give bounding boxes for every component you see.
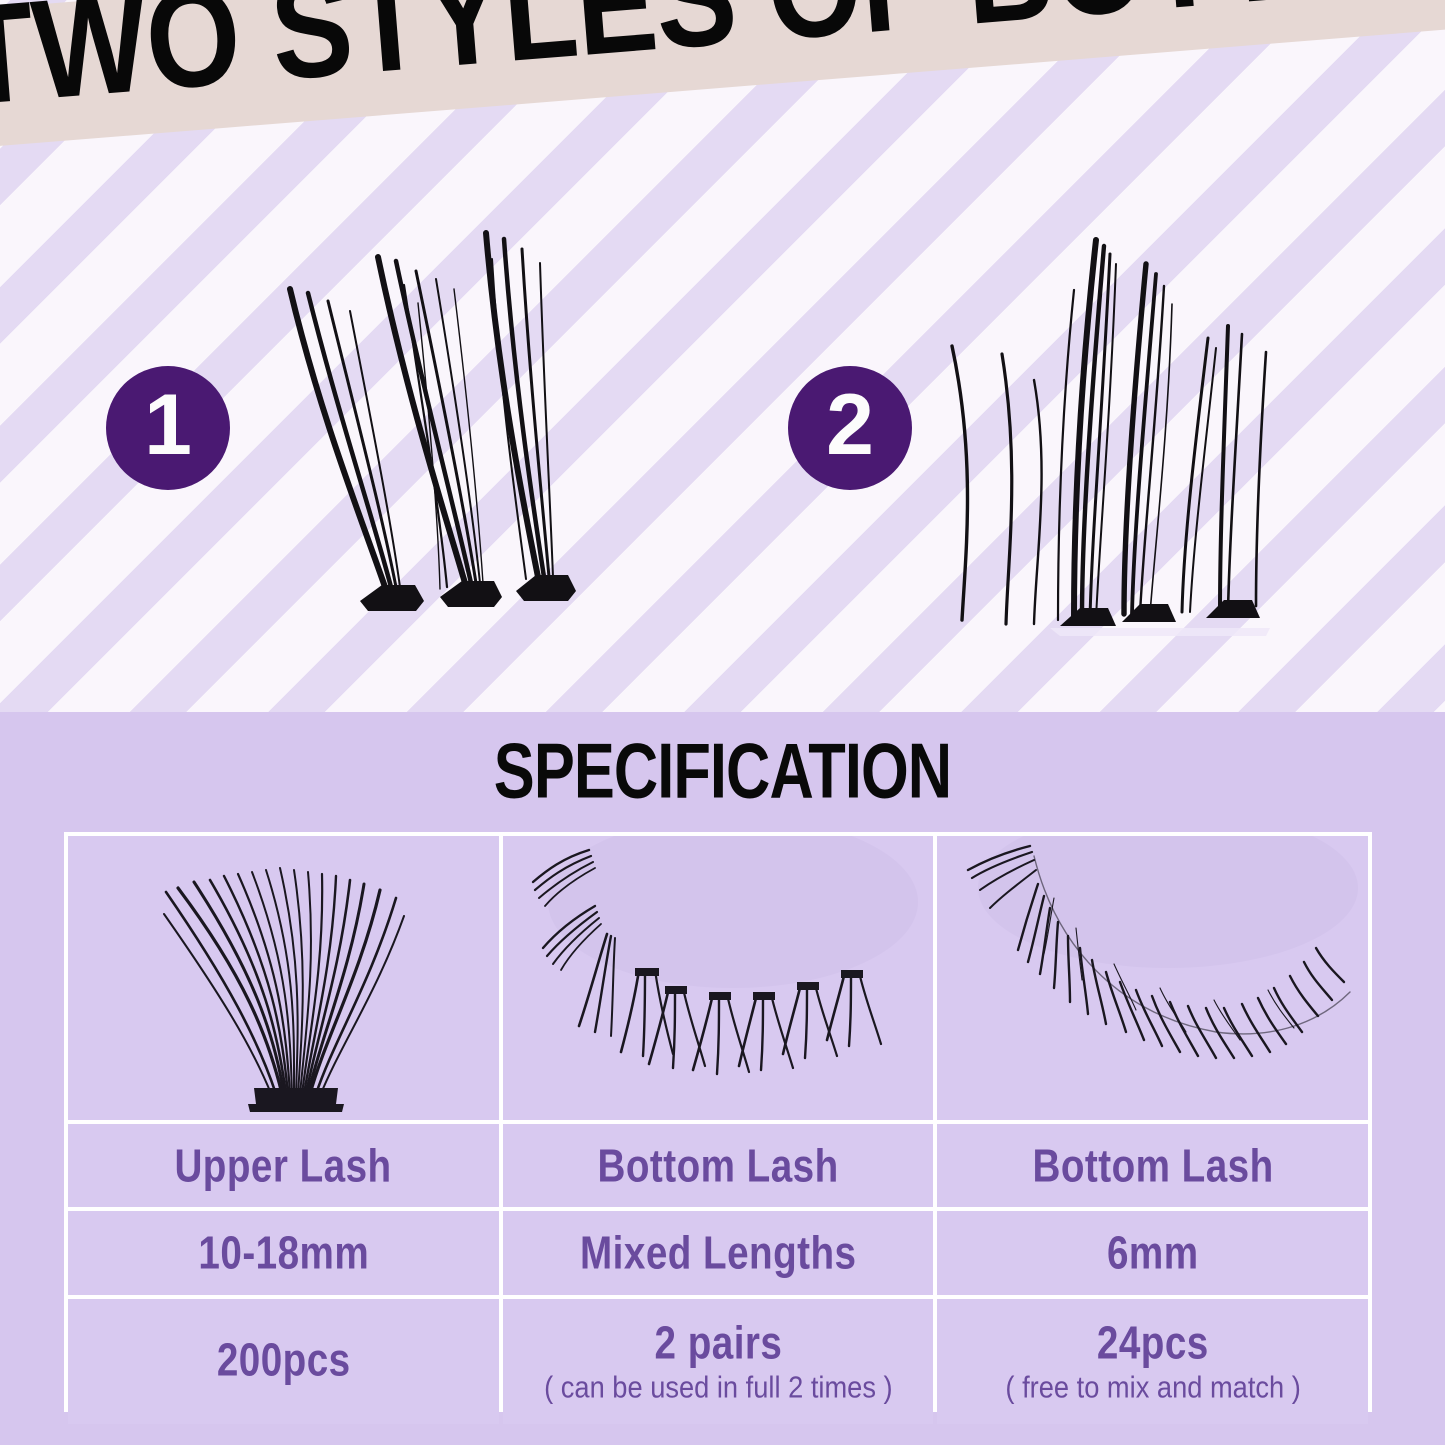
spec-quantity-bottom-lash-mixed: 2 pairs [654,1316,782,1369]
specification-table: Upper Lash Bottom Lash Bottom Lash 10-18… [64,832,1372,1412]
specification-title: SPECIFICATION [51,728,1395,813]
spec-length-bottom-lash-mixed: Mixed Lengths [580,1227,856,1280]
lash-cluster-style-2-image [910,230,1310,640]
spec-image-cell-bottom-lash-segmented [503,836,934,1120]
spec-name-cell-3: Bottom Lash [937,1124,1368,1207]
style-badge-1: 1 [106,366,230,490]
spec-name-bottom-lash-mixed: Bottom Lash [597,1139,838,1192]
spec-name-cell-1: Upper Lash [68,1124,499,1207]
spec-length-upper-lash: 10-18mm [198,1227,369,1280]
spec-length-bottom-lash-6mm: 6mm [1107,1227,1199,1280]
bottom-lash-strip-dense-icon [938,836,1368,1120]
spec-name-upper-lash: Upper Lash [175,1139,392,1192]
spec-quantity-bottom-lash-6mm: 24pcs [1097,1316,1209,1369]
spec-quantity-cell-3: 24pcs ( free to mix and match ) [937,1299,1368,1424]
style-badge-2: 2 [788,366,912,490]
fan-lash-cluster-icon [68,836,498,1120]
spec-length-cell-2: Mixed Lengths [503,1211,934,1295]
spec-quantity-upper-lash: 200pcs [216,1333,350,1386]
spec-name-cell-2: Bottom Lash [503,1124,934,1207]
spec-quantity-note-bottom-lash-mixed: ( can be used in full 2 times ) [544,1370,892,1406]
bottom-lash-strip-segmented-icon [503,836,933,1120]
spec-quantity-cell-2: 2 pairs ( can be used in full 2 times ) [503,1299,934,1424]
spec-quantity-cell-1: 200pcs [68,1299,499,1424]
infographic-page: 1 2 TWO STYLES OF BOTTOM LASH TWO STYLES… [0,0,1445,1445]
spec-image-cell-bottom-lash-dense [937,836,1368,1120]
spec-length-cell-3: 6mm [937,1211,1368,1295]
style-badge-2-number: 2 [826,382,874,468]
spec-name-bottom-lash-6mm: Bottom Lash [1032,1139,1273,1192]
spec-image-cell-upper-lash [68,836,499,1120]
style-badge-1-number: 1 [144,382,192,468]
spec-quantity-note-bottom-lash-6mm: ( free to mix and match ) [1005,1370,1300,1406]
spec-length-cell-1: 10-18mm [68,1211,499,1295]
lash-cluster-style-1-image [210,215,610,615]
